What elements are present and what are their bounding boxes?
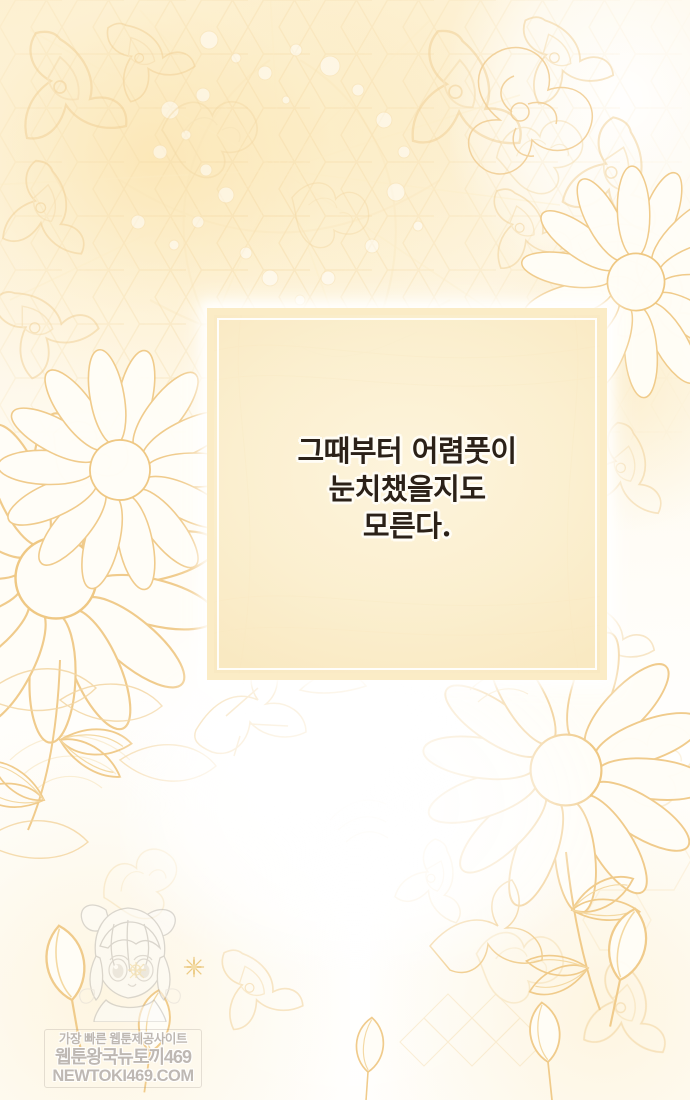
chrysanthemum-upper-right — [469, 48, 593, 174]
narration-line-3: 모른다. — [214, 508, 600, 546]
narration-line-1: 그때부터 어렴풋이 — [214, 433, 600, 471]
watermark-frame — [44, 1029, 202, 1088]
background-glow-top-right — [450, 0, 690, 290]
daisy-flower-left — [0, 413, 222, 830]
sparkle-burst-icon — [183, 956, 205, 978]
background-glow-bottom-left — [0, 730, 350, 1100]
chibi-character-illustration — [70, 894, 190, 1022]
background-glow-bottom-right — [370, 770, 690, 1100]
flower-buds-bottom — [41, 905, 653, 1100]
narration-text: 그때부터 어렴풋이 눈치챘을지도 모른다. — [214, 433, 600, 546]
small-sprigs — [330, 672, 528, 842]
foliage-top-left — [0, 669, 216, 859]
site-watermark: 가장 빠른 웹툰제공사이트 웹툰왕국뉴토끼469 NEWTOKI469.COM — [48, 1032, 198, 1086]
watermark-site-name-ko: 웹툰왕국뉴토끼469 — [48, 1047, 198, 1067]
background-center-highlight — [120, 640, 590, 970]
watermark-tagline: 가장 빠른 웹툰제공사이트 — [48, 1032, 198, 1047]
watermark-site-url: NEWTOKI469.COM — [48, 1067, 198, 1086]
narration-text-box: 그때부터 어렴풋이 눈치챘을지도 모른다. — [207, 308, 607, 680]
narration-line-2: 눈치챘을지도 — [214, 471, 600, 509]
webtoon-panel: 그때부터 어렴풋이 눈치챘을지도 모른다. — [0, 0, 690, 1100]
spiky-leaves — [195, 654, 542, 972]
